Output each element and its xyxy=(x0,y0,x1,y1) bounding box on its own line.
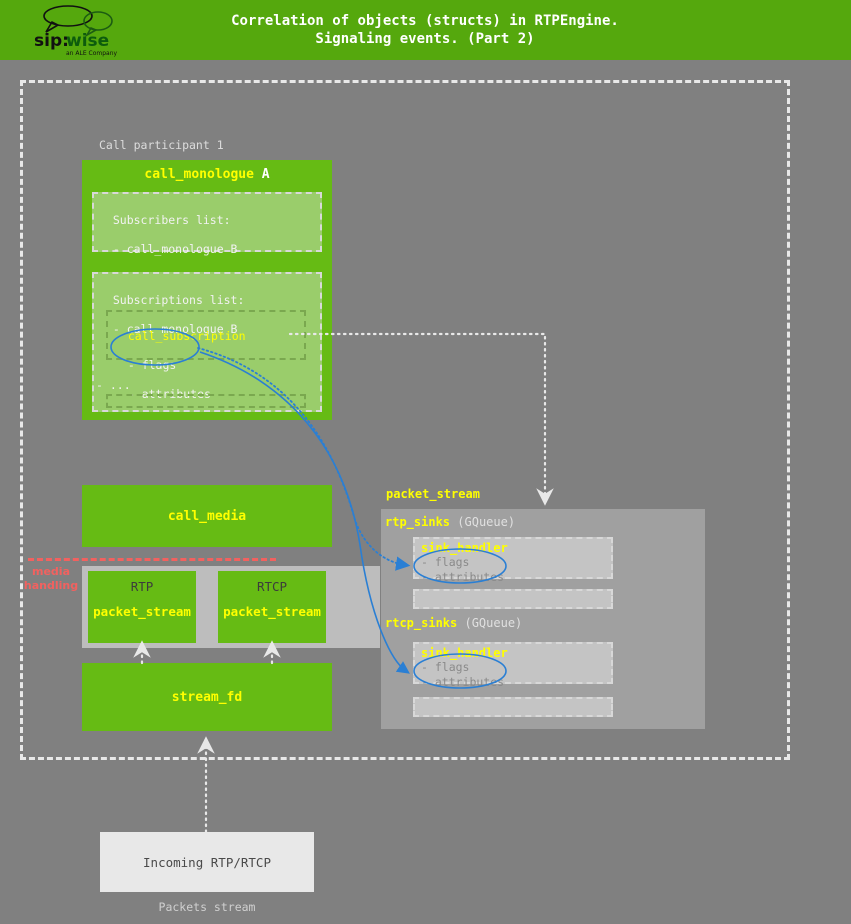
media-handling-label-line2: handling xyxy=(24,579,78,592)
call-media-box: call_media xyxy=(82,485,332,547)
page-title-line2: Signaling events. (Part 2) xyxy=(315,30,534,48)
call-participant-label: Call participant 1 xyxy=(99,138,224,152)
rtp-sink-handler-field-0: - flags xyxy=(421,555,605,570)
rtcp-sinks-kind: (GQueue) xyxy=(464,616,522,630)
rtcp-packet-stream-box: RTCP packet_stream xyxy=(218,571,326,643)
call-monologue-title: call_monologue A xyxy=(82,167,332,182)
page-title-line1: Correlation of objects (structs) in RTPE… xyxy=(231,12,619,30)
packets-stream-caption: Packets stream xyxy=(100,900,314,914)
call-subscription-placeholder-box xyxy=(106,394,306,408)
subscribers-list-box: Subscribers list: - call_monologue B - .… xyxy=(92,192,322,252)
rtcp-kind-label: RTCP xyxy=(218,579,326,594)
subscriptions-heading: Subscriptions list: xyxy=(113,293,245,307)
rtcp-sinks-name: rtcp_sinks xyxy=(385,616,457,630)
rtp-sink-handler-card: sink_handler - flags - attributes xyxy=(413,537,613,579)
packet-stream-panel-label: packet_stream xyxy=(386,487,480,501)
rtp-sinks-label: rtp_sinks (GQueue) xyxy=(385,515,515,529)
call-subscription-title: call_subscription xyxy=(128,329,246,343)
rtcp-sink-handler-placeholder-card xyxy=(413,697,613,717)
rtp-sinks-kind: (GQueue) xyxy=(457,515,515,529)
incoming-rtp-rtcp-label: Incoming RTP/RTCP xyxy=(143,855,271,870)
subscribers-item-0: - call_monologue B xyxy=(113,242,238,256)
stream-fd-box: stream_fd xyxy=(82,663,332,731)
packet-stream-panel: rtp_sinks (GQueue) sink_handler - flags … xyxy=(381,509,705,729)
rtp-sink-handler-placeholder-card xyxy=(413,589,613,609)
sipwise-logo: sip: wise an ALE Company xyxy=(30,2,130,58)
rtp-sink-handler-field-1: - attributes xyxy=(421,570,605,585)
call-media-title: call_media xyxy=(82,509,332,524)
media-handling-divider xyxy=(28,558,276,561)
rtp-sink-handler-title: sink_handler xyxy=(421,541,605,555)
rtcp-sink-handler-card: sink_handler - flags - attributes xyxy=(413,642,613,684)
page-title: Correlation of objects (structs) in RTPE… xyxy=(160,0,690,60)
media-handling-label-line1: media xyxy=(32,565,70,578)
svg-text:an ALE Company: an ALE Company xyxy=(66,50,118,57)
media-handling-label: media handling xyxy=(22,565,80,593)
rtp-sinks-name: rtp_sinks xyxy=(385,515,450,529)
call-monologue-title-text: call_monologue xyxy=(144,167,254,182)
app-header: sip: wise an ALE Company Correlation of … xyxy=(0,0,851,60)
rtcp-packet-stream-title: packet_stream xyxy=(218,604,326,619)
sipwise-logo-svg: sip: wise an ALE Company xyxy=(30,2,130,58)
subscribers-heading: Subscribers list: xyxy=(113,213,231,227)
rtp-packet-stream-box: RTP packet_stream xyxy=(88,571,196,643)
rtcp-sink-handler-title: sink_handler xyxy=(421,646,605,660)
rtcp-sink-handler-field-1: - attributes xyxy=(421,675,605,690)
rtp-packet-stream-title: packet_stream xyxy=(88,604,196,619)
svg-text:sip:: sip: xyxy=(34,31,69,51)
call-monologue-suffix: A xyxy=(254,167,270,182)
call-subscription-field-0: - flags xyxy=(128,358,176,372)
subscriptions-item-1: - ... xyxy=(96,378,131,392)
rtcp-sink-handler-field-0: - flags xyxy=(421,660,605,675)
stream-fd-title: stream_fd xyxy=(82,690,332,705)
rtp-kind-label: RTP xyxy=(88,579,196,594)
rtcp-sinks-label: rtcp_sinks (GQueue) xyxy=(385,616,522,630)
incoming-rtp-rtcp-box: Incoming RTP/RTCP xyxy=(100,832,314,892)
svg-text:wise: wise xyxy=(66,31,109,51)
call-subscription-box: call_subscription - flags - attributes xyxy=(106,310,306,360)
